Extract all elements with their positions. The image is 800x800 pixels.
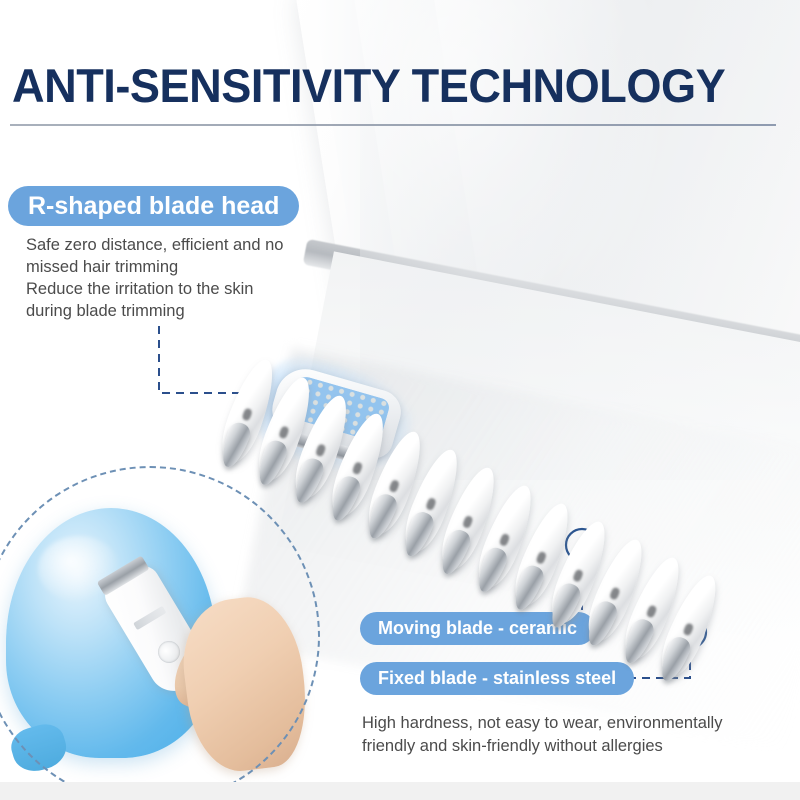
bottom-edge-band xyxy=(0,782,800,800)
description-r-shaped-blade-head: Safe zero distance, efficient and no mis… xyxy=(26,234,356,322)
badge-fixed-blade[interactable]: Fixed blade - stainless steel xyxy=(360,662,634,695)
badge-r-shaped-blade-head[interactable]: R-shaped blade head xyxy=(8,186,299,226)
title-divider-rule xyxy=(10,124,776,126)
page-title: ANTI-SENSITIVITY TECHNOLOGY xyxy=(12,62,725,109)
infographic-page: ANTI-SENSITIVITY TECHNOLOGY R-shaped bla… xyxy=(0,0,800,800)
description-blade-materials: High hardness, not easy to wear, environ… xyxy=(362,712,762,758)
